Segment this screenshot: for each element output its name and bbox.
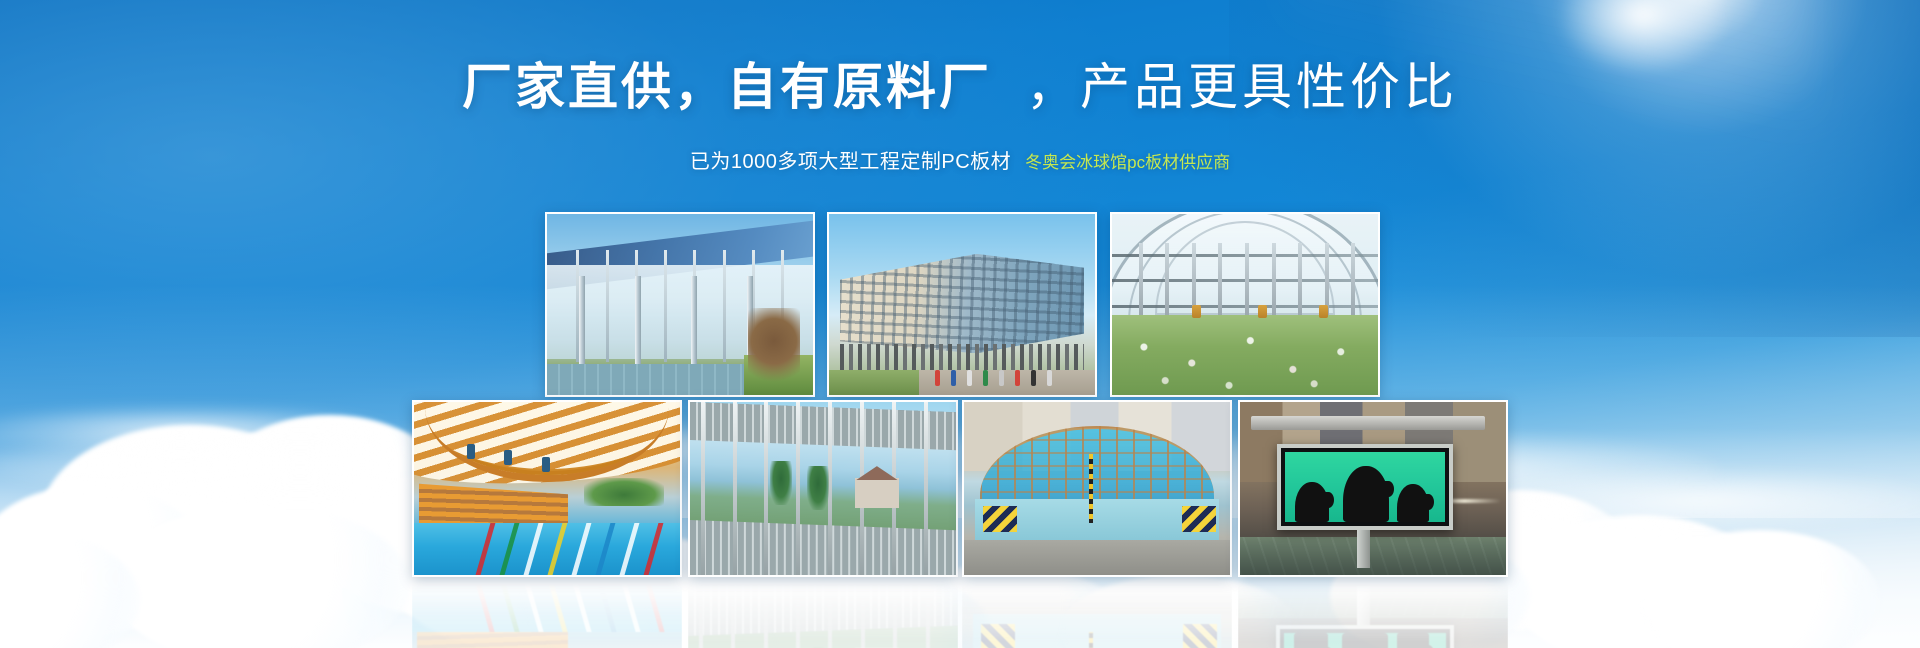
photo-artwork-mirror xyxy=(1238,579,1508,648)
photo-artwork xyxy=(414,402,680,575)
gallery-photo-reflection xyxy=(962,579,1232,648)
gallery-photo-perforated-facade-building[interactable] xyxy=(827,212,1097,397)
gallery-photo-reflection xyxy=(688,579,958,648)
photo-artwork xyxy=(690,402,956,575)
photo-artwork-mirror xyxy=(688,579,958,648)
gallery-photo-reflection xyxy=(412,579,682,648)
gallery-photo-glass-greenhouse[interactable] xyxy=(545,212,815,397)
photo-artwork xyxy=(547,214,813,395)
photo-artwork xyxy=(1240,402,1506,575)
photo-artwork xyxy=(964,402,1230,575)
gallery-photo-blue-canopy-entrance[interactable] xyxy=(962,400,1232,577)
photo-artwork-mirror xyxy=(412,579,682,648)
gallery-photo-highway-noise-barrier[interactable] xyxy=(688,400,958,577)
photo-artwork-mirror xyxy=(962,579,1232,648)
photo-artwork xyxy=(1112,214,1378,395)
gallery-photo-reflection xyxy=(1238,579,1508,648)
hero-banner: 厂家直供，自有原料厂，产品更具性价比 已为1000多项大型工程定制PC板材冬奥会… xyxy=(0,0,1920,648)
photo-artwork xyxy=(829,214,1095,395)
gallery-photo-swimming-pool-timber-roof[interactable] xyxy=(412,400,682,577)
gallery-photo-arched-greenhouse-flowers[interactable] xyxy=(1110,212,1380,397)
gallery-photo-bus-shelter-billboard[interactable] xyxy=(1238,400,1508,577)
project-photo-collage xyxy=(0,0,1920,648)
